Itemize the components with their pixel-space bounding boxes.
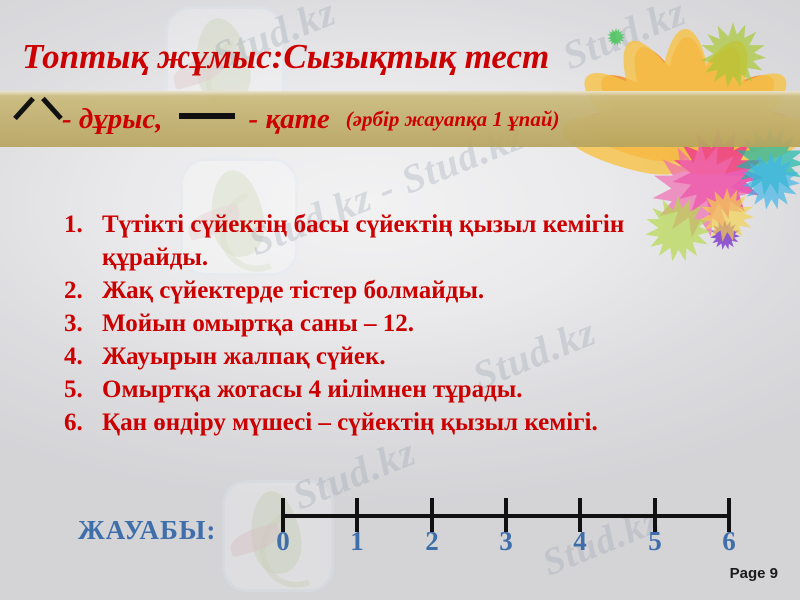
green-dot-star-icon <box>607 28 625 46</box>
slide-canvas: Stud.kzStud.kzStud.kz - Stud.kzStud.kzSt… <box>0 0 800 600</box>
green-star-icon <box>700 22 766 88</box>
question-text: Омыртқа жотасы 4 иілімнен тұрады. <box>102 373 682 406</box>
question-list: 1.Түтікті сүйектің басы сүйектің қызыл к… <box>64 208 764 439</box>
question-number: 6. <box>64 406 102 439</box>
number-line-label: 2 <box>412 526 452 557</box>
legend-correct-label: - дұрыс, <box>62 103 163 136</box>
question-item: 2.Жақ сүйектерде тістер болмайды. <box>64 274 764 307</box>
question-text: Жауырын жалпақ сүйек. <box>102 340 682 373</box>
question-number: 5. <box>64 373 102 406</box>
watermark-text: Stud.kz <box>556 0 692 79</box>
number-line-label: 6 <box>709 526 749 557</box>
cyan-star-icon <box>742 152 800 210</box>
caret-up-icon <box>16 104 60 134</box>
question-item: 3.Мойын омыртқа саны – 12. <box>64 307 764 340</box>
number-line-label: 0 <box>263 526 303 557</box>
page-number: Page 9 <box>730 565 778 582</box>
question-text: Жақ сүйектерде тістер болмайды. <box>102 274 682 307</box>
number-line-label: 4 <box>560 526 600 557</box>
number-line-label: 1 <box>337 526 377 557</box>
answer-label: ЖАУАБЫ: <box>78 515 216 546</box>
question-number: 3. <box>64 307 102 340</box>
legend-wrong-label: - қате <box>249 103 330 136</box>
question-item: 4.Жауырын жалпақ сүйек. <box>64 340 764 373</box>
number-line-label: 5 <box>635 526 675 557</box>
question-item: 5.Омыртқа жотасы 4 иілімнен тұрады. <box>64 373 764 406</box>
legend-note: (әрбір жауапқа 1 ұпай) <box>346 107 560 132</box>
question-item: 1.Түтікті сүйектің басы сүйектің қызыл к… <box>64 208 764 274</box>
number-line-label: 3 <box>486 526 526 557</box>
question-number: 2. <box>64 274 102 307</box>
answer-number-line: 0123456 <box>283 496 729 552</box>
legend-row: - дұрыс, - қате (әрбір жауапқа 1 ұпай) <box>16 96 560 142</box>
question-number: 4. <box>64 340 102 373</box>
page-title: Топтық жұмыс:Сызықтық тест <box>22 39 549 74</box>
question-item: 6.Қан өндіру мүшесі – сүйектің қызыл кем… <box>64 406 764 439</box>
question-text: Қан өндіру мүшесі – сүйектің қызыл кеміг… <box>102 406 682 439</box>
question-text: Түтікті сүйектің басы сүйектің қызыл кем… <box>102 208 682 274</box>
question-number: 1. <box>64 208 102 241</box>
question-text: Мойын омыртқа саны – 12. <box>102 307 682 340</box>
horizontal-dash-icon <box>179 113 235 119</box>
